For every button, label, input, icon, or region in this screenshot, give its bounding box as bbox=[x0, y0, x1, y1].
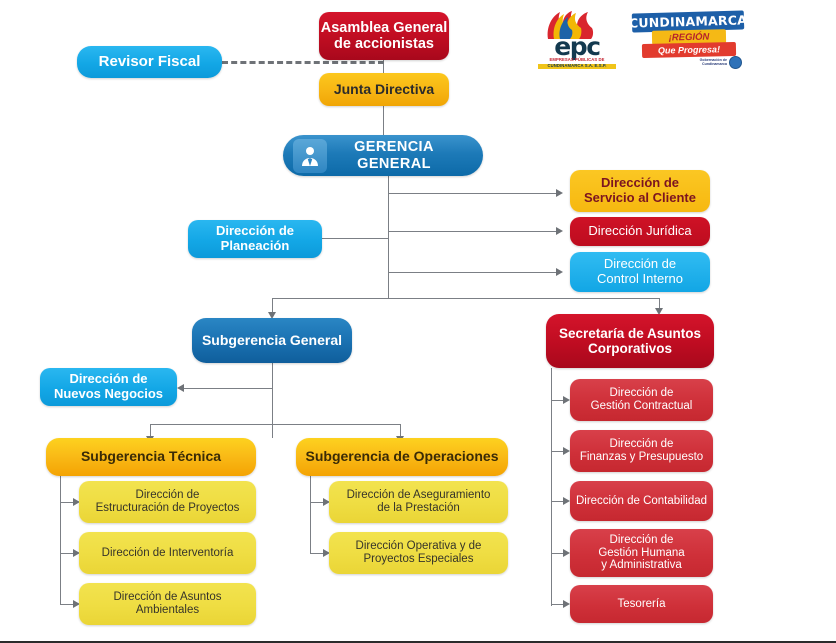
connector-subgerencia-general-trunk bbox=[272, 363, 273, 438]
connector-secretaria-child-3 bbox=[551, 501, 563, 502]
node-operaciones-child-1[interactable]: Dirección de Aseguramiento de la Prestac… bbox=[329, 481, 508, 523]
connector-secretaria-child-2 bbox=[551, 451, 563, 452]
epc-subtitle-line1: EMPRESAS PÚBLICAS DE bbox=[538, 58, 616, 62]
node-secretaria-child-4[interactable]: Dirección de Gestión Humana y Administra… bbox=[570, 529, 713, 577]
gobernacion-seal-icon bbox=[729, 56, 742, 69]
connector-branch-control-interno bbox=[388, 272, 556, 273]
connector-secretaria-child-1 bbox=[551, 400, 563, 401]
arrow-control-interno bbox=[556, 268, 563, 276]
node-junta-directiva[interactable]: Junta Directiva bbox=[319, 73, 449, 106]
org-chart-canvas: epc EMPRESAS PÚBLICAS DE CUNDINAMARCA S.… bbox=[0, 0, 836, 643]
node-gerencia-general[interactable]: GERENCIA GENERAL bbox=[283, 135, 483, 176]
connector-junta-gerencia bbox=[383, 105, 384, 135]
connector-nuevos-negocios bbox=[184, 388, 272, 389]
arrow-juridica bbox=[556, 227, 563, 235]
user-tie-icon bbox=[293, 139, 327, 173]
logo-group: epc EMPRESAS PÚBLICAS DE CUNDINAMARCA S.… bbox=[538, 10, 744, 72]
connector-tecnica-child-3 bbox=[60, 604, 73, 605]
node-secretaria-asuntos-corporativos[interactable]: Secretaría de Asuntos Corporativos bbox=[546, 314, 714, 368]
node-secretaria-child-5[interactable]: Tesorería bbox=[570, 585, 713, 623]
cundinamarca-line2: ¡REGIÓN bbox=[669, 31, 710, 43]
node-secretaria-child-3[interactable]: Dirección de Contabilidad bbox=[570, 481, 713, 521]
node-direccion-planeacion[interactable]: Dirección de Planeación bbox=[188, 220, 322, 258]
connector-secretaria-spine bbox=[551, 368, 552, 606]
connector-secretaria-child-5 bbox=[551, 604, 563, 605]
epc-subtitle-line2: CUNDINAMARCA S.A. E.S.P. bbox=[538, 64, 616, 69]
connector-branch-juridica bbox=[388, 231, 556, 232]
connector-tecnica-spine bbox=[60, 470, 61, 605]
arrow-secretaria-child-5 bbox=[563, 600, 570, 608]
node-direccion-control-interno[interactable]: Dirección de Control Interno bbox=[570, 252, 710, 292]
arrow-secretaria-child-1 bbox=[563, 396, 570, 404]
cundinamarca-logo: CUNDINAMARCA ¡REGIÓN Que Progresa! Gober… bbox=[632, 10, 744, 68]
arrow-secretaria-child-3 bbox=[563, 497, 570, 505]
arrow-secretaria-child-4 bbox=[563, 549, 570, 557]
arrow-servicio-cliente bbox=[556, 189, 563, 197]
gobernacion-line2: Cundinamarca bbox=[700, 63, 727, 67]
connector-tecnica-child-2 bbox=[60, 553, 73, 554]
node-subgerencia-operaciones[interactable]: Subgerencia de Operaciones bbox=[296, 438, 508, 476]
arrow-secretaria-child-2 bbox=[563, 447, 570, 455]
connector-operaciones-child-2 bbox=[310, 553, 323, 554]
node-subgerencia-tecnica[interactable]: Subgerencia Técnica bbox=[46, 438, 256, 476]
node-operaciones-child-2[interactable]: Dirección Operativa y de Proyectos Espec… bbox=[329, 532, 508, 574]
epc-logo: epc EMPRESAS PÚBLICAS DE CUNDINAMARCA S.… bbox=[538, 10, 616, 72]
connector-revisor-fiscal-dashed bbox=[222, 61, 384, 64]
node-direccion-nuevos-negocios[interactable]: Dirección de Nuevos Negocios bbox=[40, 368, 177, 406]
node-revisor-fiscal[interactable]: Revisor Fiscal bbox=[77, 46, 222, 78]
cundinamarca-line3: Que Progresa! bbox=[658, 44, 720, 55]
connector-planeacion-trunk bbox=[322, 238, 389, 239]
gobernacion-mark: Gobernación de Cundinamarca bbox=[700, 56, 742, 69]
arrow-nuevos-negocios bbox=[177, 384, 184, 392]
gerencia-general-label: GERENCIA GENERAL bbox=[335, 139, 483, 171]
node-subgerencia-general[interactable]: Subgerencia General bbox=[192, 318, 352, 363]
gobernacion-text: Gobernación de Cundinamarca bbox=[700, 59, 727, 67]
connector-tecnica-child-1 bbox=[60, 502, 73, 503]
node-asamblea-general[interactable]: Asamblea General de accionistas bbox=[319, 12, 449, 60]
node-tecnica-child-2[interactable]: Dirección de Interventoría bbox=[79, 532, 256, 574]
cundinamarca-line1: CUNDINAMARCA bbox=[629, 12, 747, 30]
connector-operaciones-child-1 bbox=[310, 502, 323, 503]
node-tecnica-child-3[interactable]: Dirección de Asuntos Ambientales bbox=[79, 583, 256, 625]
node-tecnica-child-1[interactable]: Dirección de Estructuración de Proyectos bbox=[79, 481, 256, 523]
connector-secretaria-child-4 bbox=[551, 553, 563, 554]
connector-branch-servicio-cliente bbox=[388, 193, 556, 194]
node-direccion-juridica[interactable]: Dirección Jurídica bbox=[570, 217, 710, 246]
connector-subgerencias-split bbox=[150, 424, 400, 425]
node-secretaria-child-1[interactable]: Dirección de Gestión Contractual bbox=[570, 379, 713, 421]
node-direccion-servicio-al-cliente[interactable]: Dirección de Servicio al Cliente bbox=[570, 170, 710, 212]
node-secretaria-child-2[interactable]: Dirección de Finanzas y Presupuesto bbox=[570, 430, 713, 472]
connector-split-bar bbox=[272, 298, 660, 299]
connector-operaciones-spine bbox=[310, 470, 311, 554]
